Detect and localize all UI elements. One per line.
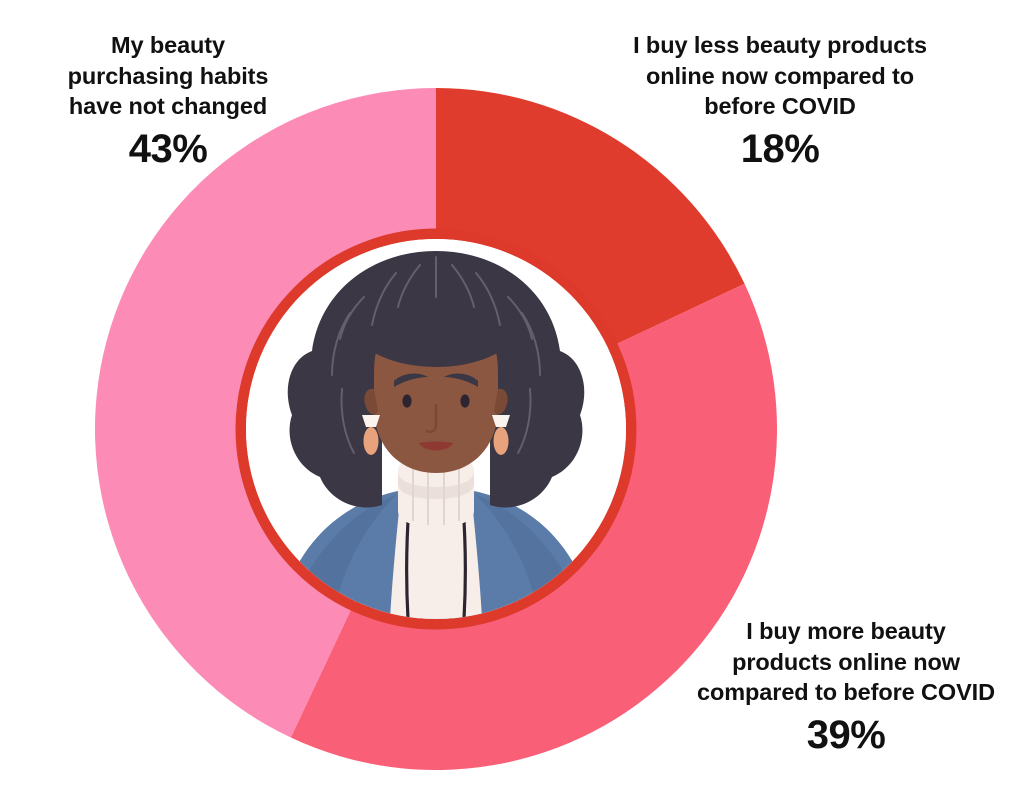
chart-label-more-online-caption: I buy more beauty products online now co…	[668, 616, 1024, 708]
chart-label-unchanged: My beauty purchasing habits have not cha…	[8, 30, 328, 173]
eye-left	[402, 394, 411, 407]
chart-label-unchanged-caption: My beauty purchasing habits have not cha…	[8, 30, 328, 122]
woman-portrait-illustration-icon	[246, 239, 626, 619]
chart-label-more-online-percent: 39%	[668, 712, 1024, 759]
eye-right	[460, 394, 469, 407]
center-portrait	[246, 239, 626, 619]
chart-label-less-online: I buy less beauty products online now co…	[578, 30, 982, 173]
chart-label-less-online-percent: 18%	[578, 126, 982, 173]
chart-label-less-online-caption: I buy less beauty products online now co…	[578, 30, 982, 122]
earring-left-drop	[364, 427, 379, 455]
chart-canvas: My beauty purchasing habits have not cha…	[0, 0, 1024, 792]
earring-right-drop	[494, 427, 509, 455]
chart-label-more-online: I buy more beauty products online now co…	[668, 616, 1024, 759]
chart-label-unchanged-percent: 43%	[8, 126, 328, 173]
